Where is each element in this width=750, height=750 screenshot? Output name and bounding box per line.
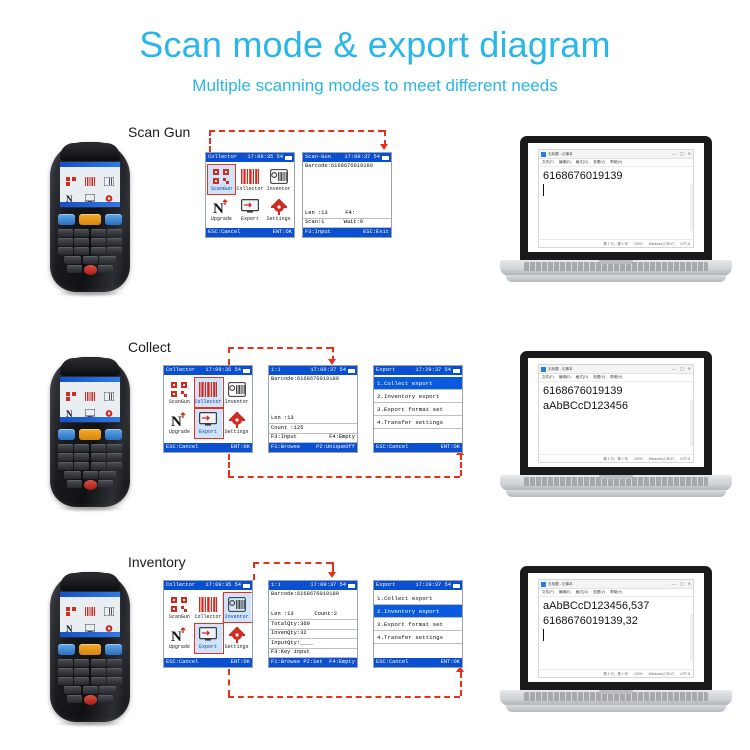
device-key[interactable] [99, 686, 116, 694]
device-key[interactable] [64, 471, 81, 479]
menu-item-settings[interactable]: Settings [222, 408, 251, 438]
screen-time: 17:09:35 54 [205, 581, 241, 590]
device-key-power[interactable] [84, 695, 97, 705]
data-row-left: F3:Input [271, 434, 297, 442]
device-key-right[interactable] [105, 214, 122, 225]
device-menu-inventor [100, 169, 119, 186]
device-menu-scangun [61, 599, 80, 616]
notepad-window[interactable]: 无标题 - 记事本 — ▢ ✕ 文件(F) 编辑(E) 格式(O) 查看(V) [538, 364, 694, 463]
menu-item-inventor[interactable]: Inventor [222, 593, 251, 623]
device-menu-upgrade: N [61, 616, 80, 633]
device-key[interactable] [91, 229, 106, 237]
close-icon[interactable]: ✕ [688, 582, 691, 586]
notepad-titlebar: 无标题 - 记事本 — ▢ ✕ [539, 365, 693, 374]
device-shadow [52, 505, 128, 512]
menu-item-label: Settings [225, 429, 249, 435]
menu-item-inventor[interactable]: Inventor [222, 378, 251, 408]
qr-code-icon [66, 388, 76, 397]
screen-foot-left: F1:Browse [271, 443, 300, 452]
menu-item-label: Upgrade [169, 644, 190, 650]
device-shadow [52, 720, 128, 727]
notepad-caret-line [543, 184, 689, 199]
device-key[interactable] [107, 444, 122, 452]
device-key[interactable] [58, 677, 73, 685]
notepad-window-title: 无标题 - 记事本 [548, 152, 672, 157]
device-key[interactable] [74, 462, 89, 470]
monitor-icon [85, 405, 95, 414]
data-row: Len :13 [269, 415, 357, 425]
screen-foot-left: F1:Browse P2:Set [271, 658, 323, 667]
menu-help[interactable]: 帮助(H) [610, 375, 622, 380]
n-arrow-icon: N [66, 190, 76, 199]
data-row: Scan:1Wait:0 [303, 219, 391, 229]
device-key[interactable] [91, 247, 106, 255]
laptop-lid: 无标题 - 记事本 — ▢ ✕ 文件(F) 编辑(E) 格式(O) 查看(V) [520, 351, 712, 476]
laptop-inventory: 无标题 - 记事本 — ▢ ✕ 文件(F) 编辑(E) 格式(O) 查看(V) [500, 566, 732, 736]
data-row-left: InvenQty:32 [271, 630, 307, 638]
device-key[interactable] [107, 659, 122, 667]
screen-title-text: Collector [208, 153, 237, 162]
menu-view[interactable]: 查看(V) [593, 375, 605, 380]
menu-item-settings[interactable]: Settings [222, 623, 251, 653]
menu-item-scangun[interactable]: ScanGun [207, 165, 236, 195]
laptop-front-edge [506, 275, 726, 282]
notepad-line: 6168676019139,32 [543, 614, 689, 629]
menu-item-collector[interactable]: Collector [194, 378, 223, 408]
device-key[interactable] [83, 686, 98, 694]
device-key[interactable] [58, 462, 73, 470]
device-key[interactable] [107, 238, 122, 246]
device-key[interactable] [83, 256, 98, 264]
device-key-left[interactable] [58, 214, 75, 225]
menu-edit[interactable]: 编辑(E) [559, 590, 571, 595]
device-key[interactable] [91, 238, 106, 246]
device-key[interactable] [74, 247, 89, 255]
screen-footer: ESC:Cancel ENT:OK [374, 658, 462, 667]
scrollbar[interactable] [690, 184, 693, 231]
qr-code-icon [171, 596, 187, 613]
notepad-line: aAbBCcD123456 [543, 399, 689, 414]
notepad-window[interactable]: 无标题 - 记事本 — ▢ ✕ 文件(F) 编辑(E) 格式(O) 查看(V) [538, 149, 694, 248]
menu-view[interactable]: 查看(V) [593, 160, 605, 165]
gear-icon [104, 620, 114, 629]
monitor-icon [241, 198, 259, 215]
terminal-export-list-screen[interactable]: Export 17:29:37 54 1.Collect export 2.In… [373, 365, 463, 453]
status-encoding: UTF-8 [680, 672, 690, 676]
battery-icon [453, 369, 460, 373]
data-row-left: InputQty:____ [271, 640, 313, 648]
device-display-footer [60, 632, 120, 637]
maximize-icon[interactable]: ▢ [680, 582, 684, 586]
minimize-icon[interactable]: — [672, 152, 676, 156]
device-key[interactable] [107, 453, 122, 461]
screen-title-text: Collector [166, 366, 195, 375]
device-menu-settings [100, 401, 119, 418]
screen-foot-right: ENT:OK [273, 228, 292, 237]
n-arrow-icon: N [66, 620, 76, 629]
device-key[interactable] [99, 471, 116, 479]
device-key-scan[interactable] [79, 429, 101, 440]
device-key[interactable] [91, 659, 106, 667]
data-row-right: F4:Empty [329, 434, 355, 442]
terminal-data-screen[interactable]: Scan-Gun 17:09:37 54 Barcode:61686760191… [302, 152, 392, 238]
device-key[interactable] [74, 229, 89, 237]
notepad-menubar[interactable]: 文件(F) 编辑(E) 格式(O) 查看(V) 帮助(H) [539, 374, 693, 382]
battery-icon [348, 369, 355, 373]
menu-item-inventor[interactable]: Inventor [264, 165, 293, 195]
menu-item-export[interactable]: Export [194, 408, 223, 438]
device-key[interactable] [107, 229, 122, 237]
device-key-power[interactable] [84, 265, 97, 275]
scrollbar[interactable] [690, 614, 693, 661]
device-display-menu: N [60, 597, 120, 635]
notepad-text-area[interactable]: aAbBCcD123456,537 6168676019139,32 [539, 597, 693, 669]
n-arrow-icon: N [212, 198, 230, 215]
device-keypad[interactable] [56, 229, 124, 275]
minimize-icon[interactable]: — [672, 582, 676, 586]
device-menu-upgrade: N [61, 186, 80, 203]
barcode-icon [199, 381, 217, 398]
barcode-value: Barcode:6168676019189 [269, 590, 357, 600]
data-row: InputQty:____ [269, 639, 357, 649]
terminal-data-screen[interactable]: 1:1 17:09:37 54 Barcode:6168676019189 Le… [268, 365, 358, 453]
data-row: F3:Key input [269, 649, 357, 659]
flow-connector-h [228, 476, 460, 478]
menu-item-collector[interactable]: Collector [236, 165, 265, 195]
laptop-screen: 无标题 - 记事本 — ▢ ✕ 文件(F) 编辑(E) 格式(O) 查看(V) [528, 358, 704, 467]
notepad-text-area[interactable]: 6168676019139 aAbBCcD123456 [539, 382, 693, 454]
device-nav-keys[interactable] [58, 429, 122, 441]
data-row: Len :13Count:2 [269, 611, 357, 621]
device-key[interactable] [58, 229, 73, 237]
menu-format[interactable]: 格式(O) [576, 160, 588, 165]
device-key[interactable] [58, 659, 73, 667]
status-zoom: 100% [634, 242, 643, 246]
window-controls[interactable]: — ▢ ✕ [672, 367, 691, 371]
screen-title-bar: Export 17:29:37 54 [374, 581, 462, 590]
qr-code-icon [66, 173, 76, 182]
list-item[interactable]: 3.Export format set [374, 403, 462, 416]
data-row-left: Len :13 [271, 611, 294, 619]
device-menu-export [80, 616, 99, 633]
menu-item-label: Settings [225, 644, 249, 650]
screen-time: 17:09:37 54 [310, 581, 346, 590]
menu-item-upgrade[interactable]: N Upgrade [165, 408, 194, 438]
svg-text:N: N [171, 414, 182, 428]
device-key-ent[interactable] [98, 695, 113, 703]
device-key[interactable] [74, 668, 89, 676]
qr-code-icon [171, 381, 187, 398]
device-key[interactable] [58, 453, 73, 461]
device-key[interactable] [107, 247, 122, 255]
screen-title-bar: 1:1 17:09:37 54 [269, 581, 357, 590]
device-key-scan[interactable] [79, 214, 101, 225]
device-key[interactable] [107, 668, 122, 676]
screen-foot-left: ESC:Cancel [376, 443, 408, 452]
status-position: 第 1 行，第 1 列 [603, 241, 628, 246]
data-row-left: Count :125 [271, 425, 303, 433]
data-row: F3:InputF4:Empty [269, 434, 357, 444]
list-item[interactable]: 2.Inventory export [374, 605, 462, 618]
menu-item-label: Collector [236, 186, 263, 192]
device-key[interactable] [64, 256, 81, 264]
device-nav-keys[interactable] [58, 644, 122, 656]
device-key-right[interactable] [105, 429, 122, 440]
menu-item-label: Upgrade [211, 216, 232, 222]
handheld-scanner-device: N [44, 138, 136, 298]
screen-footer: F1:Browse P2:UniqueOff [269, 443, 357, 452]
menu-item-label: ScanGun [169, 614, 190, 620]
flow-connector-v [228, 669, 230, 696]
menu-item-label: Settings [267, 216, 291, 222]
list-item[interactable]: 1.Collect export [374, 377, 462, 390]
device-key[interactable] [74, 238, 89, 246]
maximize-icon[interactable]: ▢ [680, 152, 684, 156]
device-key[interactable] [91, 444, 106, 452]
list-item[interactable]: 2.Inventory export [374, 390, 462, 403]
device-key[interactable] [74, 677, 89, 685]
device-menu-scangun [61, 169, 80, 186]
flow-connector-v [228, 454, 230, 476]
screen-foot-left: ESC:Cancel [208, 228, 240, 237]
laptop-scan-gun: 无标题 - 记事本 — ▢ ✕ 文件(F) 编辑(E) 格式(O) 查看(V) [500, 136, 732, 306]
laptop-trackpad-notch [599, 260, 633, 264]
data-row: TotalQty:369 [269, 620, 357, 630]
menu-file[interactable]: 文件(F) [542, 375, 554, 380]
menu-item-upgrade[interactable]: N Upgrade [165, 623, 194, 653]
terminal-data-screen[interactable]: 1:1 17:09:37 54 Barcode:6168676019189 Le… [268, 580, 358, 668]
screen-title-bar: 1:1 17:09:37 54 [269, 366, 357, 375]
screen-foot-left: ESC:Cancel [166, 658, 198, 667]
device-menu-collector [80, 599, 99, 616]
battery-icon [453, 584, 460, 588]
notepad-icon [541, 582, 546, 587]
device-key[interactable] [91, 668, 106, 676]
device-key-scan[interactable] [79, 644, 101, 655]
terminal-menu-screen[interactable]: Collector 17:09:35 54 ScanGun Collector … [205, 152, 295, 238]
minimize-icon[interactable]: — [672, 367, 676, 371]
menu-item-export[interactable]: Export [194, 623, 223, 653]
menu-view[interactable]: 查看(V) [593, 590, 605, 595]
device-menu-inventor [100, 384, 119, 401]
n-arrow-icon: N [170, 626, 188, 643]
device-keypad[interactable] [56, 659, 124, 705]
menu-file[interactable]: 文件(F) [542, 160, 554, 165]
data-row-left: TotalQty:369 [271, 621, 310, 629]
device-menu-inventor [100, 599, 119, 616]
screen-title-text: Export [376, 581, 395, 590]
device-key[interactable] [58, 247, 73, 255]
menu-item-label: ScanGun [169, 399, 190, 405]
laptop-trackpad-notch [599, 475, 633, 479]
flow-connector-v [460, 454, 462, 476]
flow-connector-h [228, 347, 332, 349]
screen-footer: F3:Input ESC:Exit [303, 228, 391, 237]
window-controls[interactable]: — ▢ ✕ [672, 582, 691, 586]
screen-footer: ESC:Cancel ENT:OK [164, 443, 252, 452]
device-key-power[interactable] [84, 480, 97, 490]
screen-title-bar: Export 17:29:37 54 [374, 366, 462, 375]
inventory-icon [228, 381, 246, 398]
menu-item-label: Collector [194, 399, 221, 405]
section-collect: Collect N [0, 333, 750, 533]
notepad-menubar[interactable]: 文件(F) 编辑(E) 格式(O) 查看(V) 帮助(H) [539, 159, 693, 167]
device-display-footer [60, 202, 120, 207]
device-key[interactable] [58, 444, 73, 452]
gear-icon [271, 198, 287, 215]
screen-time: 17:09:35 54 [205, 366, 241, 375]
notepad-window-title: 无标题 - 记事本 [548, 367, 672, 372]
menu-edit[interactable]: 编辑(E) [559, 160, 571, 165]
flow-connector-h [228, 696, 460, 698]
screen-title-text: Scan-Gun [305, 153, 331, 162]
device-key[interactable] [74, 453, 89, 461]
device-nav-keys[interactable] [58, 214, 122, 226]
barcode-icon [85, 388, 95, 397]
device-key-esc[interactable] [67, 695, 82, 703]
menu-help[interactable]: 帮助(H) [610, 590, 622, 595]
device-key[interactable] [74, 659, 89, 667]
laptop-lid: 无标题 - 记事本 — ▢ ✕ 文件(F) 编辑(E) 格式(O) 查看(V) [520, 566, 712, 691]
menu-help[interactable]: 帮助(H) [610, 160, 622, 165]
handheld-scanner-device: N [44, 568, 136, 728]
device-key[interactable] [64, 686, 81, 694]
notepad-menubar[interactable]: 文件(F) 编辑(E) 格式(O) 查看(V) 帮助(H) [539, 589, 693, 597]
screen-foot-right: ENT:OK [441, 658, 460, 667]
export-list: 1.Collect export 2.Inventory export 3.Ex… [374, 375, 462, 429]
device-key-esc[interactable] [67, 265, 82, 273]
device-scanner-head [60, 573, 120, 591]
laptop-front-edge [506, 490, 726, 497]
laptop-screen: 无标题 - 记事本 — ▢ ✕ 文件(F) 编辑(E) 格式(O) 查看(V) [528, 573, 704, 682]
qr-code-icon [213, 168, 229, 185]
device-key-ent[interactable] [98, 480, 113, 488]
svg-text:N: N [213, 201, 224, 215]
battery-icon [348, 584, 355, 588]
notepad-titlebar: 无标题 - 记事本 — ▢ ✕ [539, 580, 693, 589]
menu-format[interactable]: 格式(O) [576, 375, 588, 380]
list-item[interactable]: 4.Transfer settings [374, 416, 462, 429]
device-key[interactable] [74, 444, 89, 452]
inventory-icon [228, 596, 246, 613]
notepad-statusbar: 第 1 行，第 1 列 100% Windows (CRLF) UTF-8 [539, 669, 693, 677]
screen-title-bar: Scan-Gun 17:09:37 54 [303, 153, 391, 162]
menu-item-scangun[interactable]: ScanGun [165, 378, 194, 408]
device-key[interactable] [58, 668, 73, 676]
terminal-menu-screen[interactable]: Collector 17:09:35 54 ScanGun Collector … [163, 580, 253, 668]
screen-title-text: Collector [166, 581, 195, 590]
device-menu-settings [100, 616, 119, 633]
device-key-left[interactable] [58, 429, 75, 440]
page-subtitle: Multiple scanning modes to meet differen… [0, 76, 750, 96]
data-row-right: F4: [345, 210, 355, 218]
device-key[interactable] [91, 462, 106, 470]
notepad-line: 6168676019139 [543, 169, 689, 184]
inventory-icon [104, 388, 114, 397]
notepad-window[interactable]: 无标题 - 记事本 — ▢ ✕ 文件(F) 编辑(E) 格式(O) 查看(V) [538, 579, 694, 678]
device-key[interactable] [99, 256, 116, 264]
data-row-left: Scan:1 [305, 219, 324, 227]
device-key-right[interactable] [105, 644, 122, 655]
screen-title-text: 1:1 [271, 366, 281, 375]
device-key[interactable] [58, 238, 73, 246]
notepad-icon [541, 367, 546, 372]
flow-connector-v [209, 130, 211, 152]
screen-foot-right: F4:Empty [329, 658, 355, 667]
list-item[interactable]: 4.Transfer settings [374, 631, 462, 644]
barcode-icon [199, 596, 217, 613]
status-zoom: 100% [634, 672, 643, 676]
gear-icon [229, 626, 245, 643]
device-key[interactable] [107, 462, 122, 470]
maximize-icon[interactable]: ▢ [680, 367, 684, 371]
terminal-menu-screen[interactable]: Collector 17:09:35 54 ScanGun Collector … [163, 365, 253, 453]
device-key[interactable] [91, 677, 106, 685]
menu-format[interactable]: 格式(O) [576, 590, 588, 595]
menu-item-settings[interactable]: Settings [264, 195, 293, 225]
scrollbar[interactable] [690, 399, 693, 446]
device-menu-upgrade: N [61, 401, 80, 418]
close-icon[interactable]: ✕ [688, 152, 691, 156]
battery-icon [243, 584, 250, 588]
inventory-icon [104, 173, 114, 182]
menu-item-upgrade[interactable]: N Upgrade [207, 195, 236, 225]
menu-item-scangun[interactable]: ScanGun [165, 593, 194, 623]
n-arrow-icon: N [66, 405, 76, 414]
notepad-caret-line [543, 629, 689, 644]
inventory-icon [270, 168, 288, 185]
laptop-collect: 无标题 - 记事本 — ▢ ✕ 文件(F) 编辑(E) 格式(O) 查看(V) [500, 351, 732, 521]
qr-code-icon [66, 603, 76, 612]
device-key-esc[interactable] [67, 480, 82, 488]
device-key[interactable] [91, 453, 106, 461]
close-icon[interactable]: ✕ [688, 367, 691, 371]
screen-foot-left: ESC:Cancel [166, 443, 198, 452]
gear-icon [104, 190, 114, 199]
battery-icon [285, 156, 292, 160]
barcode-icon [85, 173, 95, 182]
terminal-export-list-screen[interactable]: Export 17:29:37 54 1.Collect export 2.In… [373, 580, 463, 668]
menu-file[interactable]: 文件(F) [542, 590, 554, 595]
notepad-line: 6168676019139 [543, 384, 689, 399]
device-keypad[interactable] [56, 444, 124, 490]
screen-foot-right: ESC:Exit [363, 228, 389, 237]
text-caret [543, 629, 544, 641]
list-item[interactable]: 1.Collect export [374, 592, 462, 605]
device-menu-export [80, 186, 99, 203]
barcode-value: Barcode:6168676019189 [303, 162, 391, 172]
list-item[interactable]: 3.Export format set [374, 618, 462, 631]
notepad-statusbar: 第 1 行，第 1 列 100% Windows (CRLF) UTF-8 [539, 454, 693, 462]
data-row-left: Len :13 [305, 210, 328, 218]
data-row-right: Count:2 [314, 611, 337, 619]
device-key[interactable] [107, 677, 122, 685]
notepad-text-area[interactable]: 6168676019139 [539, 167, 693, 239]
device-shadow [52, 290, 128, 297]
menu-item-collector[interactable]: Collector [194, 593, 223, 623]
device-key[interactable] [83, 471, 98, 479]
device-display-menu: N [60, 167, 120, 205]
screen-time: 17:29:37 54 [415, 366, 451, 375]
screen-foot-left: ESC:Cancel [376, 658, 408, 667]
device-key-left[interactable] [58, 644, 75, 655]
screen-time: 17:09:37 54 [310, 366, 346, 375]
window-controls[interactable]: — ▢ ✕ [672, 152, 691, 156]
data-rows: Len :13Count:2 TotalQty:369 InvenQty:32 … [269, 611, 357, 659]
device-key-ent[interactable] [98, 265, 113, 273]
menu-edit[interactable]: 编辑(E) [559, 375, 571, 380]
menu-item-export[interactable]: Export [236, 195, 265, 225]
